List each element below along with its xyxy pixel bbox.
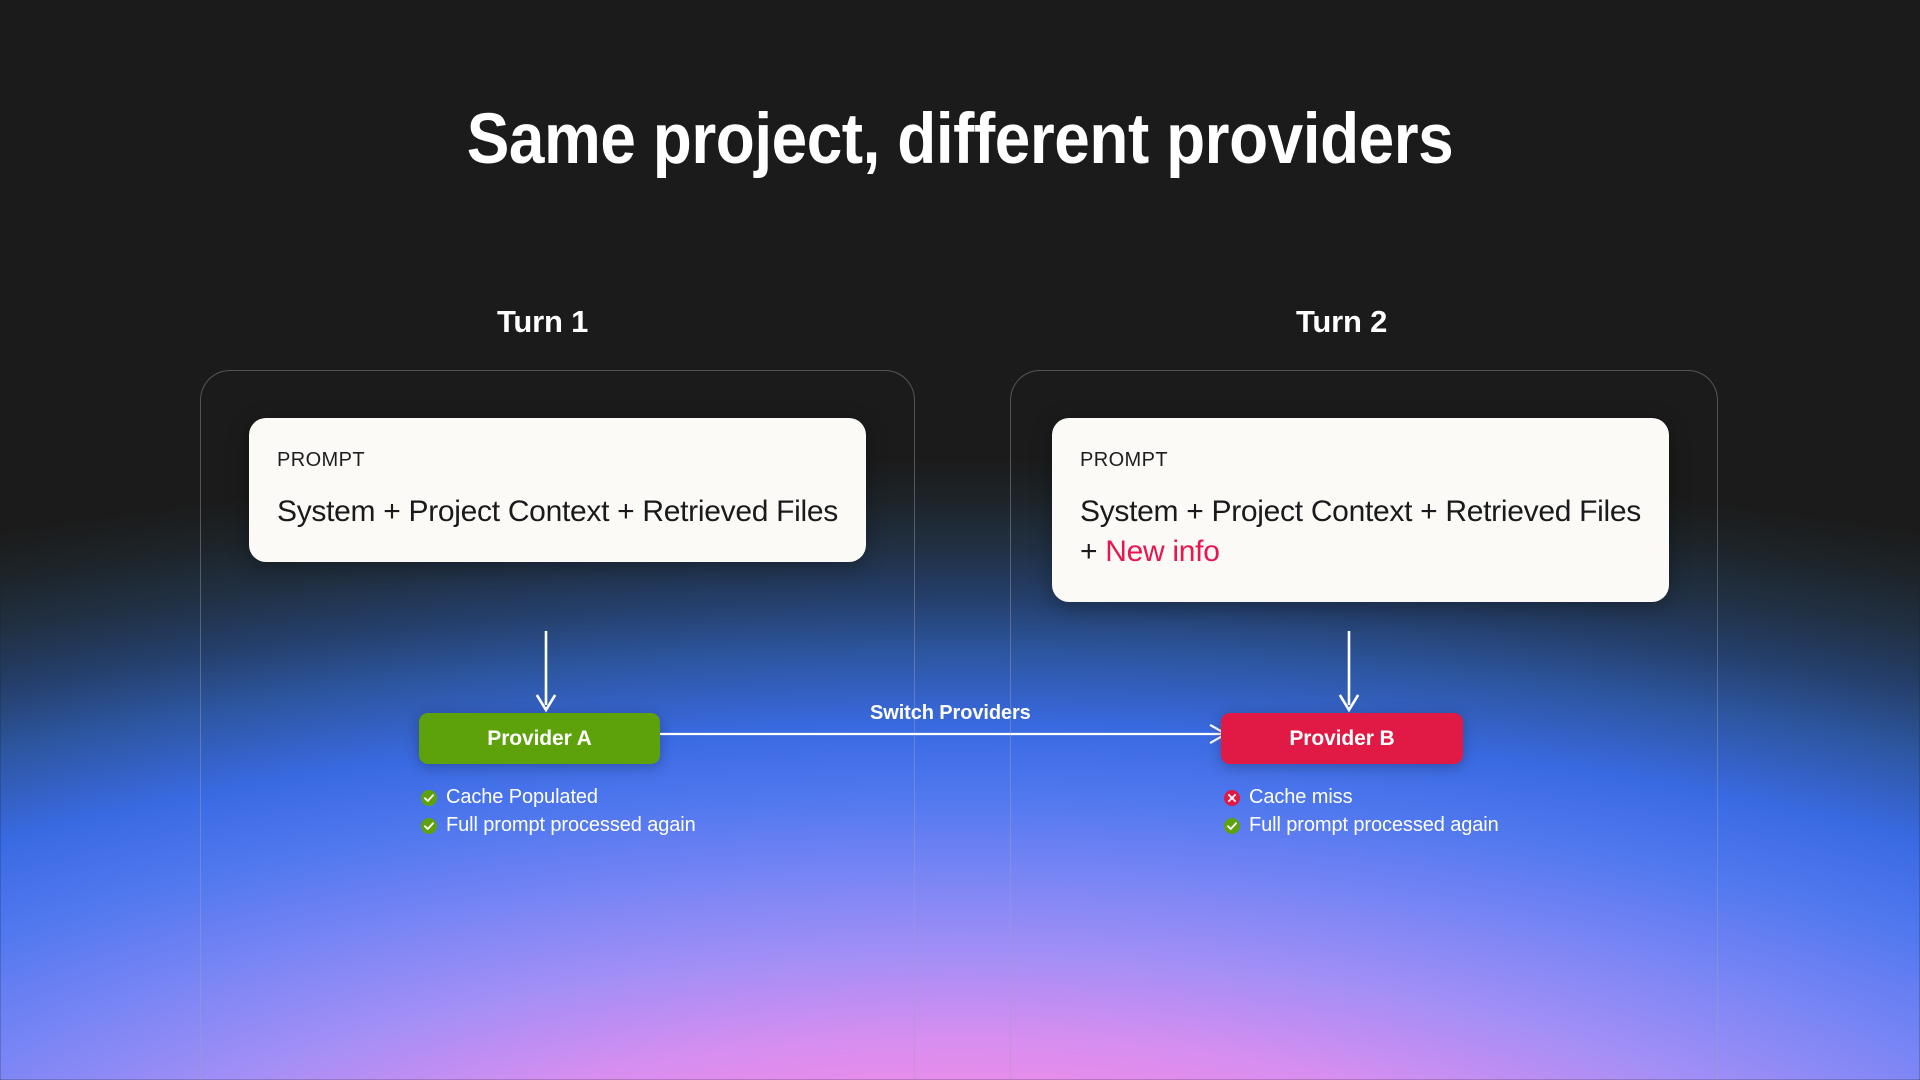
turn-2-down-arrow-icon	[1338, 631, 1360, 715]
slide-canvas: Same project, different providers Turn 1…	[0, 0, 1920, 1080]
turn-1-status-list: Cache Populated Full prompt processed ag…	[421, 786, 696, 837]
background-top-fade	[0, 0, 1920, 430]
provider-a-label: Provider A	[487, 727, 591, 751]
status-item: Cache Populated	[421, 786, 696, 809]
status-label: Cache miss	[1249, 786, 1352, 809]
provider-b-label: Provider B	[1289, 727, 1394, 751]
check-circle-icon	[421, 790, 437, 806]
turn-1-down-arrow-icon	[535, 631, 557, 715]
check-circle-icon	[421, 818, 437, 834]
status-label: Full prompt processed again	[446, 814, 696, 837]
provider-a-button[interactable]: Provider A	[419, 713, 660, 764]
turn-2-prompt-body: System + Project Context + Retrieved Fil…	[1080, 492, 1641, 572]
status-label: Cache Populated	[446, 786, 598, 809]
status-item: Cache miss	[1224, 786, 1499, 809]
turn-1-prompt-text: System + Project Context + Retrieved Fil…	[277, 495, 838, 528]
page-title: Same project, different providers	[96, 104, 1824, 176]
provider-b-button[interactable]: Provider B	[1221, 713, 1463, 764]
turn-2-prompt-kicker: PROMPT	[1080, 450, 1641, 470]
turn-2-heading: Turn 2	[1296, 304, 1387, 340]
turn-2-prompt-card: PROMPT System + Project Context + Retrie…	[1052, 418, 1669, 602]
turn-1-prompt-body: System + Project Context + Retrieved Fil…	[277, 492, 838, 532]
turn-2-prompt-accent: New info	[1105, 535, 1219, 568]
check-circle-icon	[1224, 818, 1240, 834]
turn-2-status-list: Cache miss Full prompt processed again	[1224, 786, 1499, 837]
x-circle-icon	[1224, 790, 1240, 806]
turn-1-prompt-kicker: PROMPT	[277, 450, 838, 470]
status-item: Full prompt processed again	[421, 814, 696, 837]
status-item: Full prompt processed again	[1224, 814, 1499, 837]
turn-1-heading: Turn 1	[497, 304, 588, 340]
switch-providers-label: Switch Providers	[870, 702, 1031, 725]
turn-1-prompt-card: PROMPT System + Project Context + Retrie…	[249, 418, 866, 562]
status-label: Full prompt processed again	[1249, 814, 1499, 837]
